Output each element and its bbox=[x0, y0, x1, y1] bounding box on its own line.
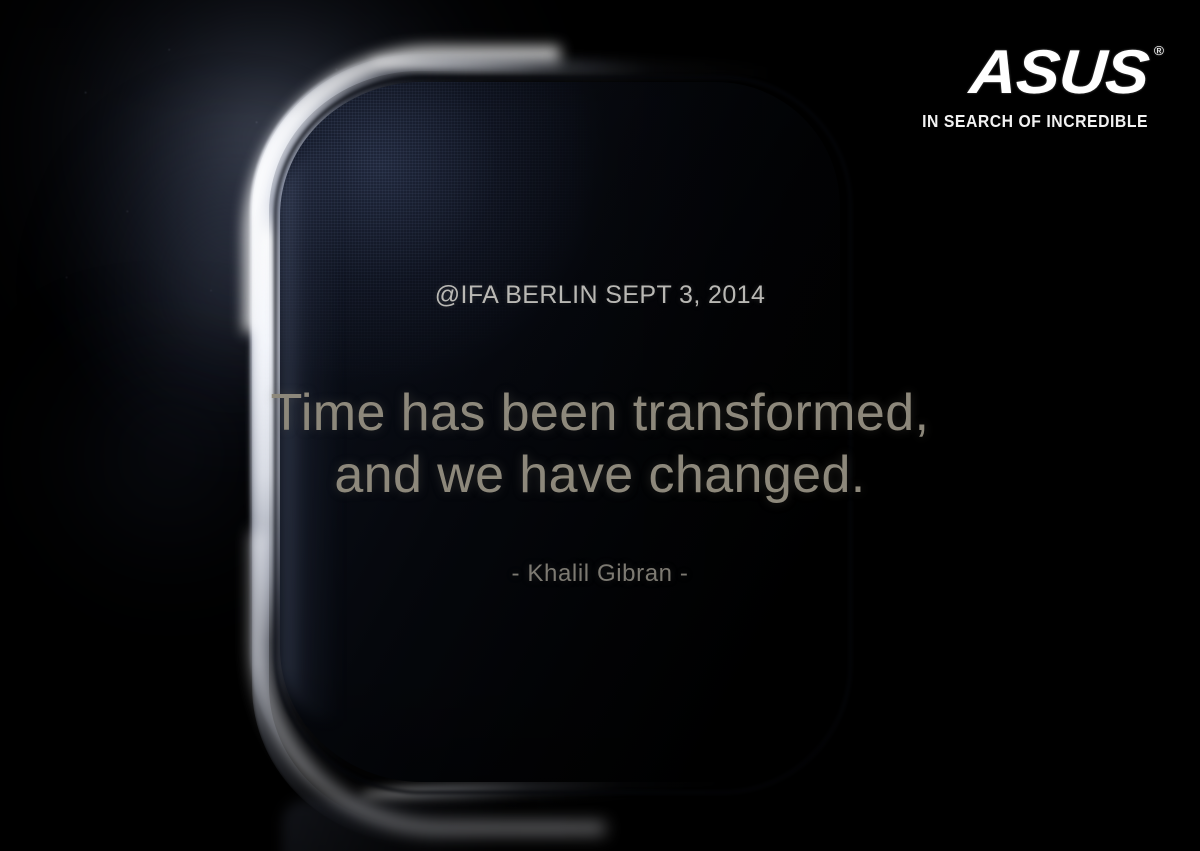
asus-tagline: IN SEARCH OF INCREDIBLE bbox=[922, 113, 1148, 131]
bezel-rim-specular-highlight bbox=[252, 54, 902, 844]
quote-line-1: Time has been transformed, bbox=[0, 382, 1200, 444]
asus-wordmark-text: ASUS bbox=[967, 38, 1150, 107]
bezel-highlight-top-streak bbox=[370, 53, 850, 84]
dust-speckle-texture bbox=[40, 20, 420, 350]
bezel-highlight-top-left-corner bbox=[244, 46, 560, 332]
screen-glass-edge-sheen bbox=[280, 142, 340, 722]
registered-trademark-icon: ® bbox=[1153, 44, 1163, 57]
watch-bezel bbox=[250, 52, 870, 812]
ambient-glow-secondary bbox=[10, 60, 450, 560]
screen-pixel-grid-texture bbox=[280, 82, 840, 782]
asus-wordmark: ASUS® bbox=[967, 42, 1150, 104]
smartwatch-product bbox=[250, 52, 870, 812]
bezel-highlight-bottom-left-corner bbox=[252, 532, 605, 835]
quote-attribution: - Khalil Gibran - bbox=[0, 560, 1200, 588]
quote-line-2: and we have changed. bbox=[0, 444, 1200, 506]
ambient-glow-primary bbox=[0, 0, 600, 650]
watch-strap bbox=[282, 800, 582, 851]
bezel-highlight-left-edge bbox=[254, 202, 280, 642]
asus-logo: ASUS® IN SEARCH OF INCREDIBLE bbox=[897, 42, 1148, 131]
ambient-glow-lower bbox=[0, 330, 360, 750]
quote-text: Time has been transformed, and we have c… bbox=[0, 382, 1200, 507]
watch-screen bbox=[280, 82, 840, 782]
bezel-screen-groove bbox=[274, 76, 852, 794]
bezel-highlight-bottom-streak bbox=[360, 769, 780, 803]
event-announcement: @IFA BERLIN SEPT 3, 2014 bbox=[0, 281, 1200, 310]
teaser-image: ASUS® IN SEARCH OF INCREDIBLE @IFA BERLI… bbox=[0, 0, 1200, 851]
